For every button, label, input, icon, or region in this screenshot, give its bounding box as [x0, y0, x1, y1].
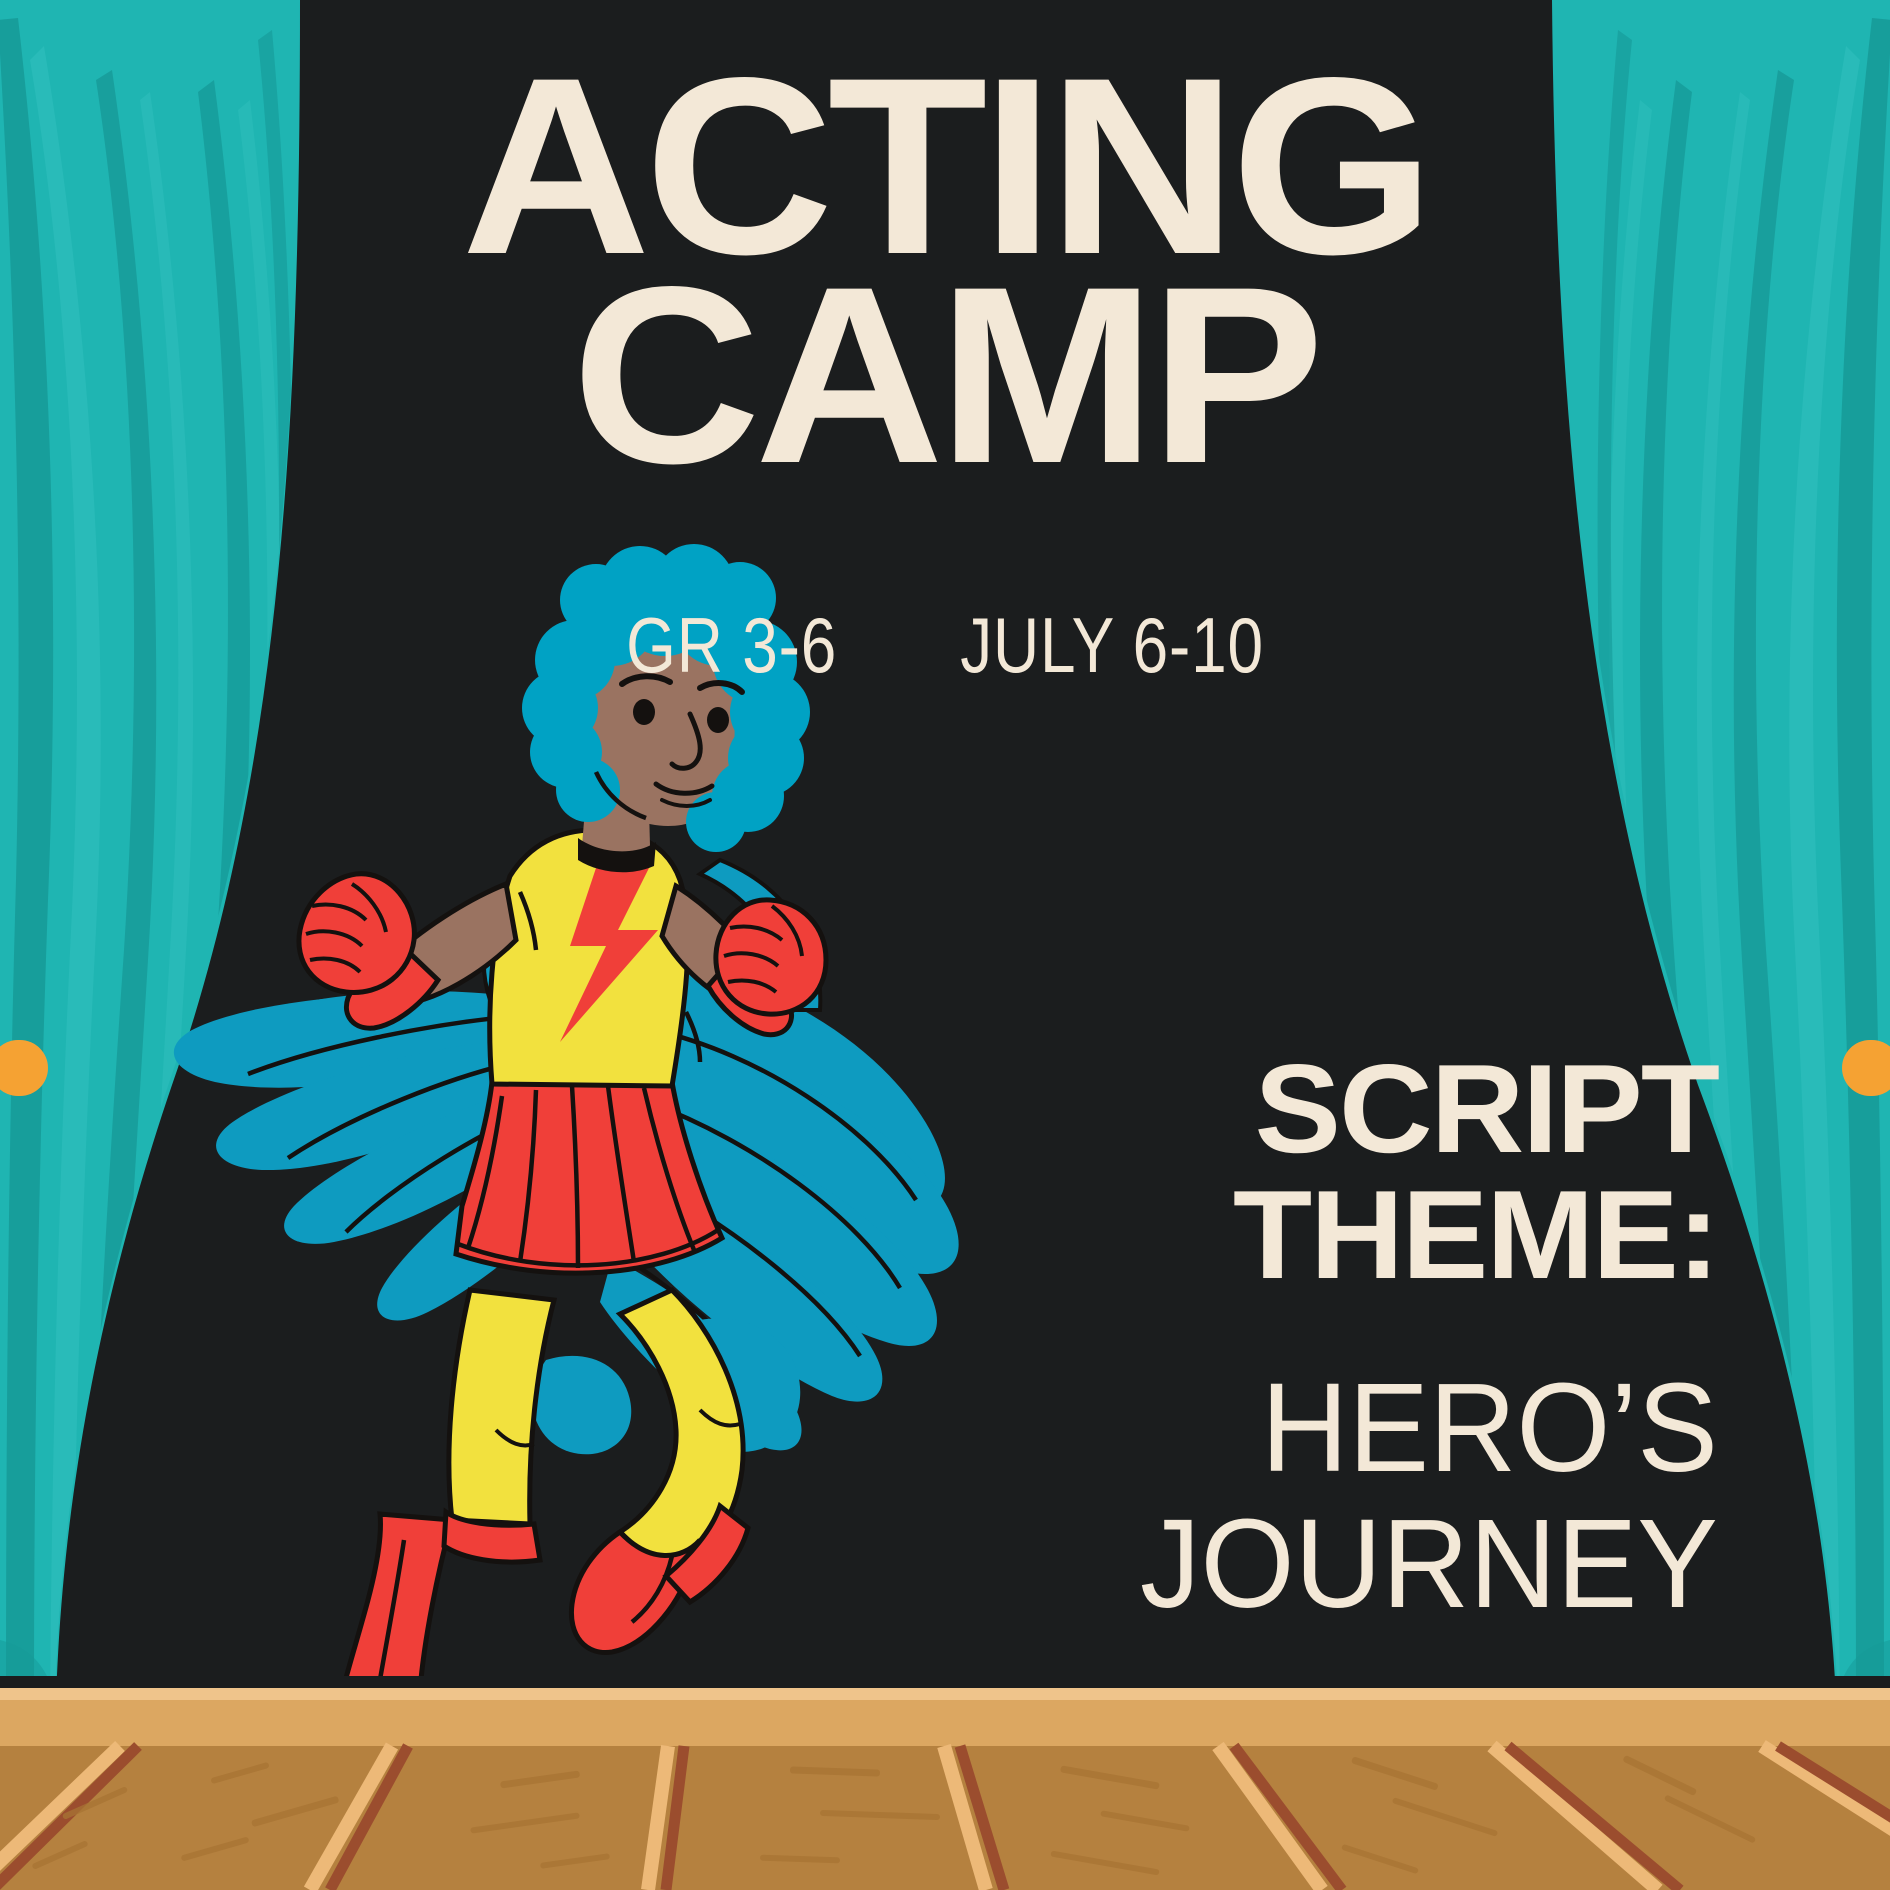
stage-scene: [0, 0, 1890, 1890]
leotard: [490, 830, 688, 1086]
stage-floor-icon: [0, 1676, 1890, 1890]
acting-camp-poster: ACTING CAMP GR 3-6 JULY 6-10 SCRIPT THEM…: [0, 0, 1890, 1890]
fist-right: [716, 900, 826, 1014]
